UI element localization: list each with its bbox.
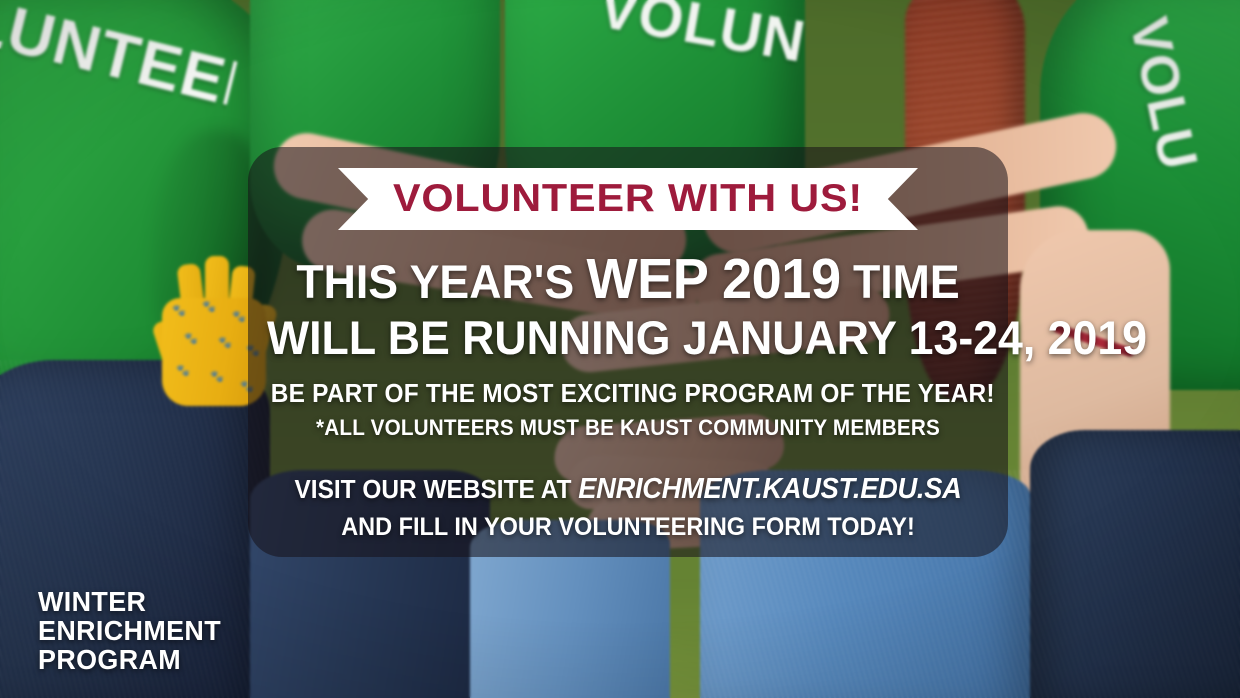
headline-line-1: THIS YEAR'S WEP 2019 TIME	[267, 250, 989, 308]
headline-line-2: WILL BE RUNNING JANUARY 13-24, 2019	[267, 314, 989, 362]
logo-line-program: PROGRAM	[38, 646, 221, 675]
headline-emphasis: WEP 2019	[587, 247, 841, 311]
headline-prefix: THIS YEAR'S	[296, 255, 586, 308]
logo-line-enrichment: ENRICHMENT	[38, 617, 221, 646]
subheading-line: BE PART OF THE MOST EXCITING PROGRAM OF …	[271, 378, 985, 409]
disclaimer-line: *ALL VOLUNTEERS MUST BE KAUST COMMUNITY …	[271, 415, 985, 441]
website-prefix: VISIT OUR WEBSITE AT	[294, 474, 578, 504]
website-url[interactable]: ENRICHMENT.KAUST.EDU.SA	[578, 473, 961, 505]
logo-line-winter: WINTER	[38, 588, 221, 617]
ribbon-headline: VOLUNTEER WITH US!	[321, 168, 936, 230]
ribbon-banner: VOLUNTEER WITH US!	[338, 168, 918, 230]
poster-copy: THIS YEAR'S WEP 2019 TIME WILL BE RUNNIN…	[248, 250, 1008, 542]
website-line: VISIT OUR WEBSITE AT ENRICHMENT.KAUST.ED…	[271, 473, 985, 506]
headline-suffix: TIME	[841, 255, 960, 308]
call-to-action-line: AND FILL IN YOUR VOLUNTEERING FORM TODAY…	[271, 513, 985, 542]
poster: LUNTEER 🐾 🐾 🐾 🐾 🐾 🐾 🐾 🐾 🐾 VOL	[0, 0, 1240, 698]
wep-logo: WINTER ENRICHMENT PROGRAM	[38, 588, 229, 674]
